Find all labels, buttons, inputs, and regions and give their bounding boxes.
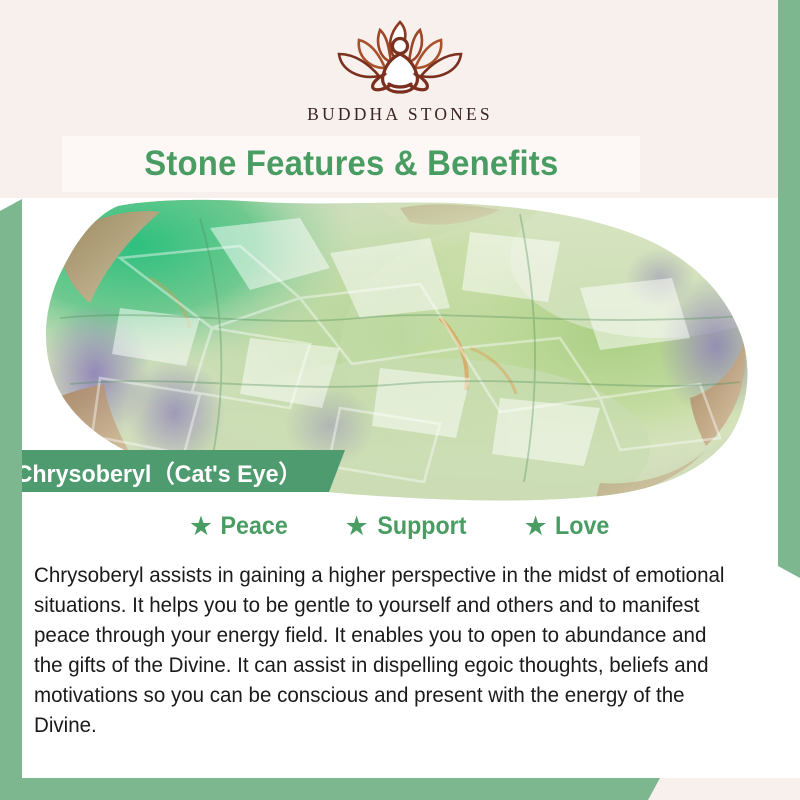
product-infographic: BUDDHA STONES bbox=[0, 0, 800, 800]
star-icon: ★ bbox=[344, 513, 368, 540]
benefits-row: ★ Peace ★ Support ★ Love bbox=[0, 512, 800, 541]
brand-name-text: BUDDHA STONES bbox=[307, 104, 493, 125]
brand-logo: BUDDHA STONES bbox=[0, 14, 800, 125]
frame-border-bottom bbox=[0, 778, 660, 800]
title-banner: Stone Features & Benefits bbox=[62, 136, 640, 192]
benefit-label: Love bbox=[555, 512, 609, 541]
stone-description: Chrysoberyl assists in gaining a higher … bbox=[34, 560, 727, 740]
page-title: Stone Features & Benefits bbox=[144, 144, 558, 184]
star-icon: ★ bbox=[189, 513, 213, 540]
stone-name-banner: Chrysoberyl（Cat's Eye） bbox=[0, 450, 345, 492]
benefit-item-support: ★ Support bbox=[344, 512, 469, 541]
lotus-meditation-icon bbox=[325, 14, 475, 102]
benefit-item-peace: ★ Peace bbox=[189, 512, 291, 541]
benefit-item-love: ★ Love bbox=[523, 512, 611, 541]
star-icon: ★ bbox=[523, 513, 547, 540]
frame-border-right bbox=[778, 0, 800, 578]
benefit-label: Support bbox=[377, 512, 466, 541]
benefit-label: Peace bbox=[221, 512, 288, 541]
stone-name-text: Chrysoberyl（Cat's Eye） bbox=[0, 454, 302, 489]
frame-border-left bbox=[0, 199, 22, 800]
